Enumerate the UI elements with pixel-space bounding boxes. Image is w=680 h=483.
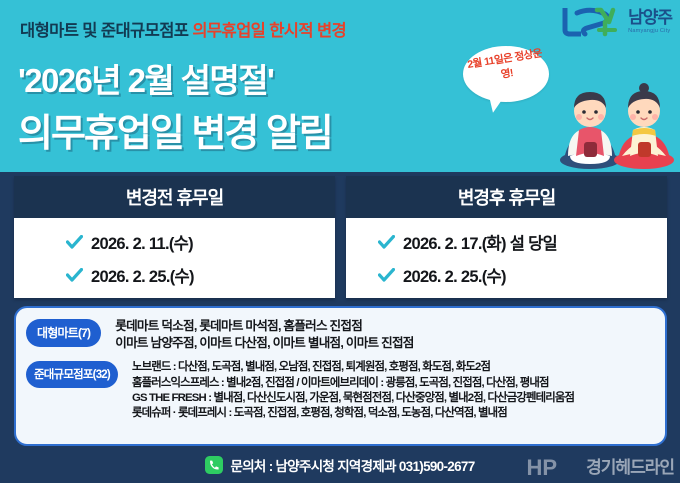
city-logo-name: 남양주 [628, 9, 672, 26]
store-line: 롯데마트 덕소점, 롯데마트 마석점, 홈플러스 진접점 [115, 318, 413, 335]
check-mark-icon [66, 268, 83, 282]
date-text: 2026. 2. 11.(수) [91, 230, 193, 254]
date-text: 2026. 2. 25.(수) [91, 263, 194, 287]
date-row: 2026. 2. 25.(수) [378, 263, 667, 287]
store-line: GS THE FRESH : 별내점, 다산신도시점, 가운점, 묵현점전점, … [132, 391, 574, 406]
footer-contact-text: 문의처 : 남양주시청 지역경제과 031)590-2677 [230, 455, 474, 475]
page-title-line1: '2026년 2월 설명절' [18, 54, 273, 102]
store-list-lines: 노브랜드 : 다산점, 도곡점, 별내점, 오남점, 진접점, 퇴계원점, 호평… [132, 359, 574, 421]
date-row: 2026. 2. 17.(화) 설 당일 [378, 230, 667, 254]
store-category-badge: 대형마트(7) [26, 319, 101, 347]
namyangju-ci-logo-icon [561, 4, 623, 38]
speech-bubble-tail-icon [486, 92, 506, 114]
store-line: 이마트 남양주점, 이마트 다산점, 이마트 별내점, 이마트 진접점 [115, 335, 413, 352]
poster-root: 대형마트 및 준대규모점포 의무휴업일 한시적 변경 '2026년 2월 설명절… [0, 0, 680, 483]
city-logo-text: 남양주 Namyangju City [628, 7, 672, 35]
header-band: 대형마트 및 준대규모점포 의무휴업일 한시적 변경 '2026년 2월 설명절… [0, 0, 680, 172]
check-mark-icon [378, 268, 395, 282]
after-change-card: 변경후 휴무일 2026. 2. 17.(화) 설 당일 2026. 2. 25… [346, 176, 667, 298]
after-change-title: 변경후 휴무일 [346, 176, 667, 218]
store-line: 롯데슈퍼 · 롯데프레시 : 도곡점, 진접점, 호평점, 청학점, 덕소점, … [132, 406, 574, 421]
store-category-badge: 준대규모점포(32) [26, 361, 118, 388]
store-line: 홈플러스익스프레스 : 별내2점, 진접점 / 이마트에브리데이 : 광릉점, … [132, 376, 574, 391]
date-row: 2026. 2. 11.(수) [66, 230, 335, 254]
before-change-title: 변경전 휴무일 [14, 176, 335, 218]
store-group-large-mart: 대형마트(7) 롯데마트 덕소점, 롯데마트 마석점, 홈플러스 진접점 이마트… [26, 317, 655, 351]
page-title-line2: 의무휴업일 변경 알림 [18, 102, 332, 157]
check-mark-icon [378, 235, 395, 249]
before-change-dates: 2026. 2. 11.(수) 2026. 2. 25.(수) [14, 218, 335, 287]
after-change-dates: 2026. 2. 17.(화) 설 당일 2026. 2. 25.(수) [346, 218, 667, 287]
kicker-highlight-text: 의무휴업일 한시적 변경 [192, 22, 346, 40]
phone-icon [205, 456, 223, 474]
city-logo: 남양주 Namyangju City [561, 4, 672, 38]
date-row: 2026. 2. 25.(수) [66, 263, 335, 287]
hanbok-children-illustration-icon [548, 72, 680, 172]
date-text: 2026. 2. 17.(화) 설 당일 [403, 230, 557, 254]
store-list-panel: 대형마트(7) 롯데마트 덕소점, 롯데마트 마석점, 홈플러스 진접점 이마트… [14, 306, 667, 446]
date-text: 2026. 2. 25.(수) [403, 263, 506, 287]
city-logo-subtitle: Namyangju City [628, 29, 672, 35]
kicker-plain-text: 대형마트 및 준대규모점포 [20, 22, 192, 40]
before-change-card: 변경전 휴무일 2026. 2. 11.(수) 2026. 2. 25.(수) [14, 176, 335, 298]
store-group-semi-large: 준대규모점포(32) 노브랜드 : 다산점, 도곡점, 별내점, 오남점, 진접… [26, 359, 655, 421]
check-mark-icon [66, 235, 83, 249]
kicker-line: 대형마트 및 준대규모점포 의무휴업일 한시적 변경 [20, 17, 346, 41]
store-list-lines: 롯데마트 덕소점, 롯데마트 마석점, 홈플러스 진접점 이마트 남양주점, 이… [115, 317, 413, 351]
footer-contact-bar: 문의처 : 남양주시청 지역경제과 031)590-2677 [0, 446, 680, 483]
store-line: 노브랜드 : 다산점, 도곡점, 별내점, 오남점, 진접점, 퇴계원점, 호평… [132, 360, 574, 375]
